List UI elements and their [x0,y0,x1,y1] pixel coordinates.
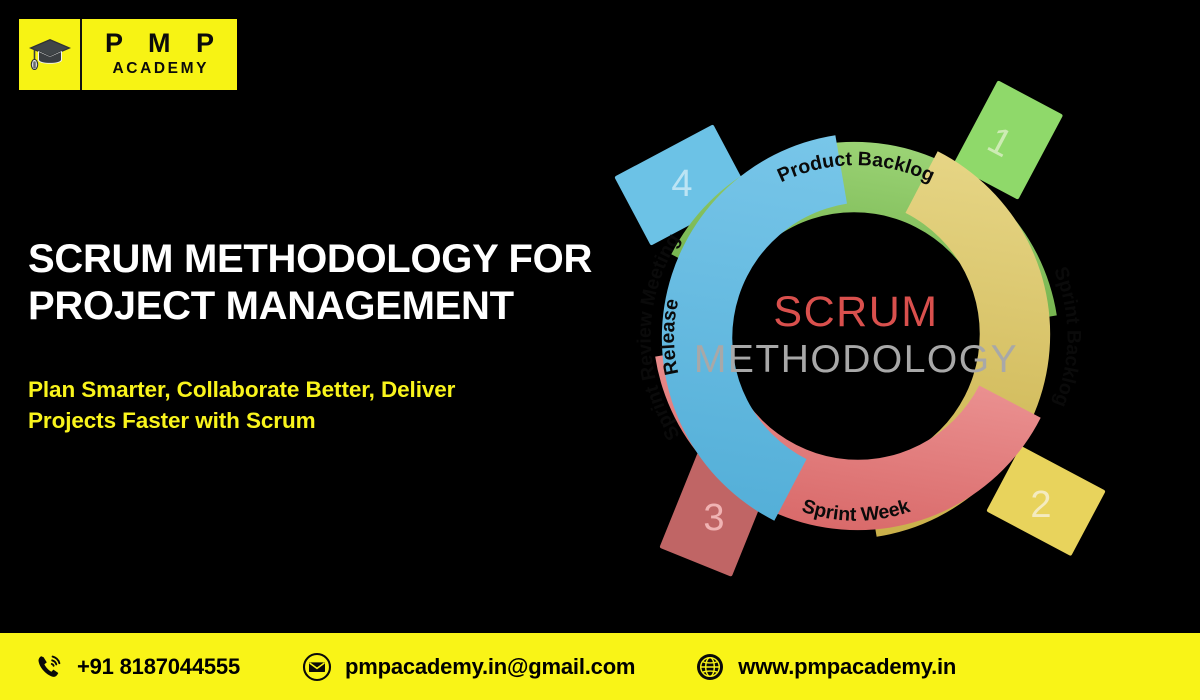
segment-number-2: 2 [1030,484,1051,526]
contact-phone[interactable]: +91 8187044555 [34,652,240,682]
contact-email[interactable]: pmpacademy.in@gmail.com [302,652,635,682]
globe-icon [695,652,725,682]
contact-footer: +91 8187044555 pmpacademy.in@gmail.com [0,633,1200,700]
website-url: www.pmpacademy.in [738,654,956,680]
segment-number-4: 4 [671,163,692,205]
headline-line-2: PROJECT MANAGEMENT [28,284,514,328]
poster-canvas: P M P ACADEMY SCRUM METHODOLOGY FOR PROJ… [0,0,1200,700]
segment-label-2: Sprint Backlog [1049,264,1084,410]
diagram-center-subtitle: METHODOLOGY [694,338,1018,381]
subhead-line-2: Projects Faster with Scrum [28,408,316,433]
graduation-cap-icon [19,19,82,90]
diagram-center-title: SCRUM [773,288,938,336]
envelope-icon [302,652,332,682]
phone-number: +91 8187044555 [77,654,240,680]
logo-title: P M P [96,29,223,57]
scrum-cycle-diagram: 1 2 3 4 [586,64,1126,609]
page-title: SCRUM METHODOLOGY FOR PROJECT MANAGEMENT [28,236,598,330]
headline-line-1: SCRUM METHODOLOGY FOR [28,237,592,281]
segment-number-3: 3 [703,497,724,539]
page-subtitle: Plan Smarter, Collaborate Better, Delive… [28,374,598,436]
logo-text: P M P ACADEMY [82,19,237,90]
subhead-line-1: Plan Smarter, Collaborate Better, Delive… [28,377,455,402]
hero-copy: SCRUM METHODOLOGY FOR PROJECT MANAGEMENT… [28,236,598,436]
email-address: pmpacademy.in@gmail.com [345,654,635,680]
logo-subtitle: ACADEMY [110,59,209,78]
contact-website[interactable]: www.pmpacademy.in [695,652,956,682]
logo[interactable]: P M P ACADEMY [19,19,237,90]
phone-icon [34,652,64,682]
